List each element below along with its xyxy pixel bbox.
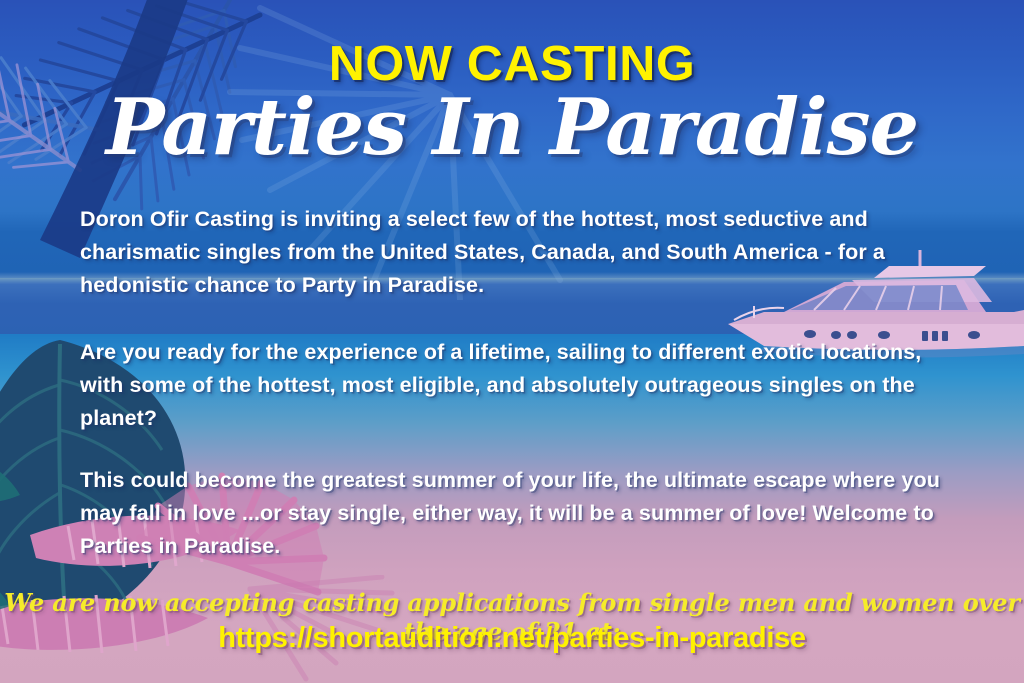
poster-canvas: NOW CASTING Parties In Paradise Doron Of… bbox=[0, 0, 1024, 683]
application-url-link[interactable]: https://shortaudition.net/parties-in-par… bbox=[0, 622, 1024, 655]
body-paragraph-3: This could become the greatest summer of… bbox=[80, 464, 965, 563]
body-paragraph-1: Doron Ofir Casting is inviting a select … bbox=[80, 203, 965, 302]
page-title: Parties In Paradise bbox=[0, 88, 1024, 168]
body-paragraph-2: Are you ready for the experience of a li… bbox=[80, 336, 965, 435]
